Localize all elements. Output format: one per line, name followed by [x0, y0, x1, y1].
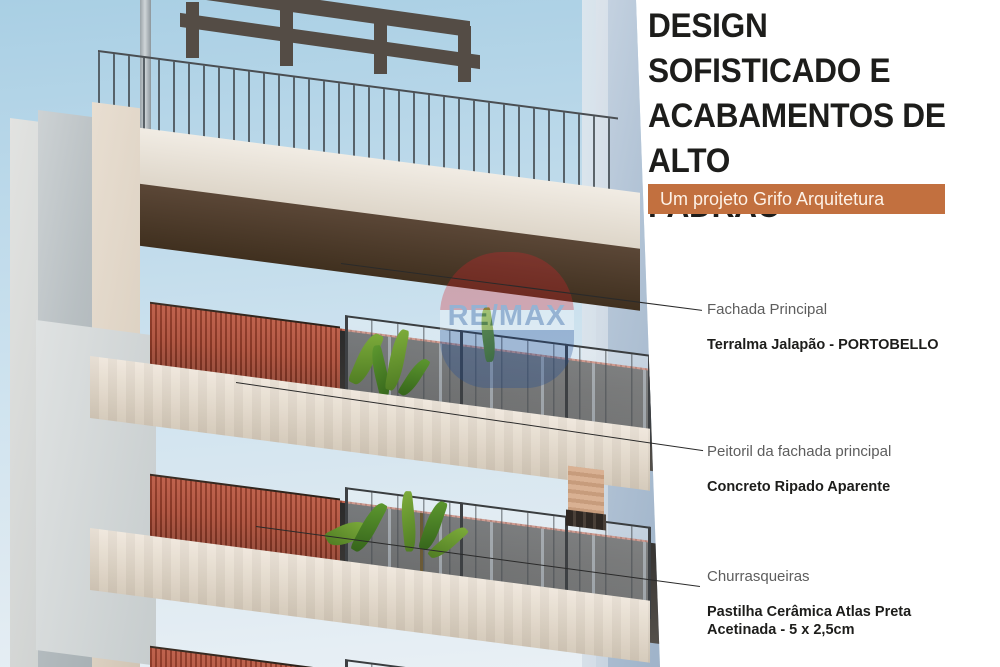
annotation-detail-line-1: Pastilha Cerâmica Atlas Preta	[707, 603, 997, 621]
annotation-title: Fachada Principal	[707, 300, 997, 320]
pergola-post-3	[374, 18, 387, 74]
pergola-post-2	[280, 10, 293, 66]
watermark-balloon-bottom	[440, 330, 574, 388]
headline-line-2: ACABAMENTOS DE ALTO	[648, 94, 969, 184]
headline-line-1: DESIGN SOFISTICADO E	[648, 4, 969, 94]
slide-root: RE/MAX DESIGN SOFISTICADO E ACABAMENTOS …	[0, 0, 1000, 667]
annotation-fachada-principal: Fachada Principal Terralma Jalapão - POR…	[707, 300, 997, 355]
balcony-glass-railing	[345, 659, 650, 667]
remax-watermark: RE/MAX	[432, 252, 582, 394]
annotation-churrasqueiras: Churrasqueiras Pastilha Cerâmica Atlas P…	[707, 567, 997, 639]
pergola-post-1	[186, 2, 199, 58]
railing-post	[345, 659, 348, 667]
annotation-detail: Concreto Ripado Aparente	[707, 478, 997, 497]
wood-texture-detail	[568, 466, 604, 516]
annotation-title: Churrasqueiras	[707, 567, 997, 587]
watermark-text: RE/MAX	[432, 300, 582, 333]
project-credit-label: Um projeto Grifo Arquitetura	[648, 189, 884, 210]
annotation-title: Peitoril da fachada principal	[707, 442, 997, 462]
annotation-detail: Terralma Jalapão - PORTOBELLO	[707, 336, 997, 355]
annotation-peitoril: Peitoril da fachada principal Concreto R…	[707, 442, 997, 497]
annotation-detail-line-2: Acetinada - 5 x 2,5cm	[707, 621, 997, 639]
project-credit-badge: Um projeto Grifo Arquitetura	[648, 184, 945, 214]
pergola-post-4	[458, 26, 471, 82]
rust-ribbed-panel	[150, 648, 650, 667]
